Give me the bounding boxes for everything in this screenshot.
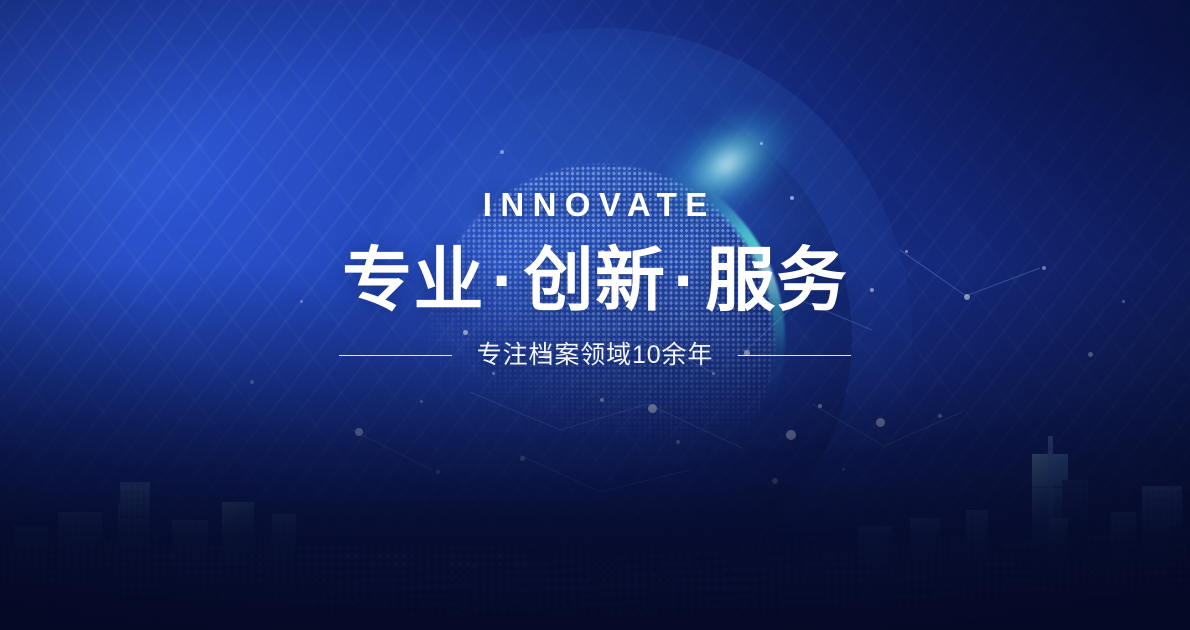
- headline-part-1: 专业: [342, 241, 485, 319]
- headline-separator-1: ·: [485, 241, 524, 319]
- subline-text: 专注档案领域10余年: [477, 343, 714, 368]
- headline-part-2: 创新: [524, 241, 667, 319]
- right-rule: [738, 355, 851, 356]
- headline-part-3: 服务: [705, 241, 848, 319]
- banner-content: INNOVATE 专业·创新·服务 专注档案领域10余年: [0, 188, 1190, 368]
- subline-row: 专注档案领域10余年: [0, 343, 1190, 368]
- hero-banner: INNOVATE 专业·创新·服务 专注档案领域10余年: [0, 0, 1190, 630]
- headline: 专业·创新·服务: [0, 241, 1190, 319]
- eyebrow-text: INNOVATE: [0, 188, 1190, 221]
- headline-separator-2: ·: [666, 241, 705, 319]
- left-rule: [339, 355, 452, 356]
